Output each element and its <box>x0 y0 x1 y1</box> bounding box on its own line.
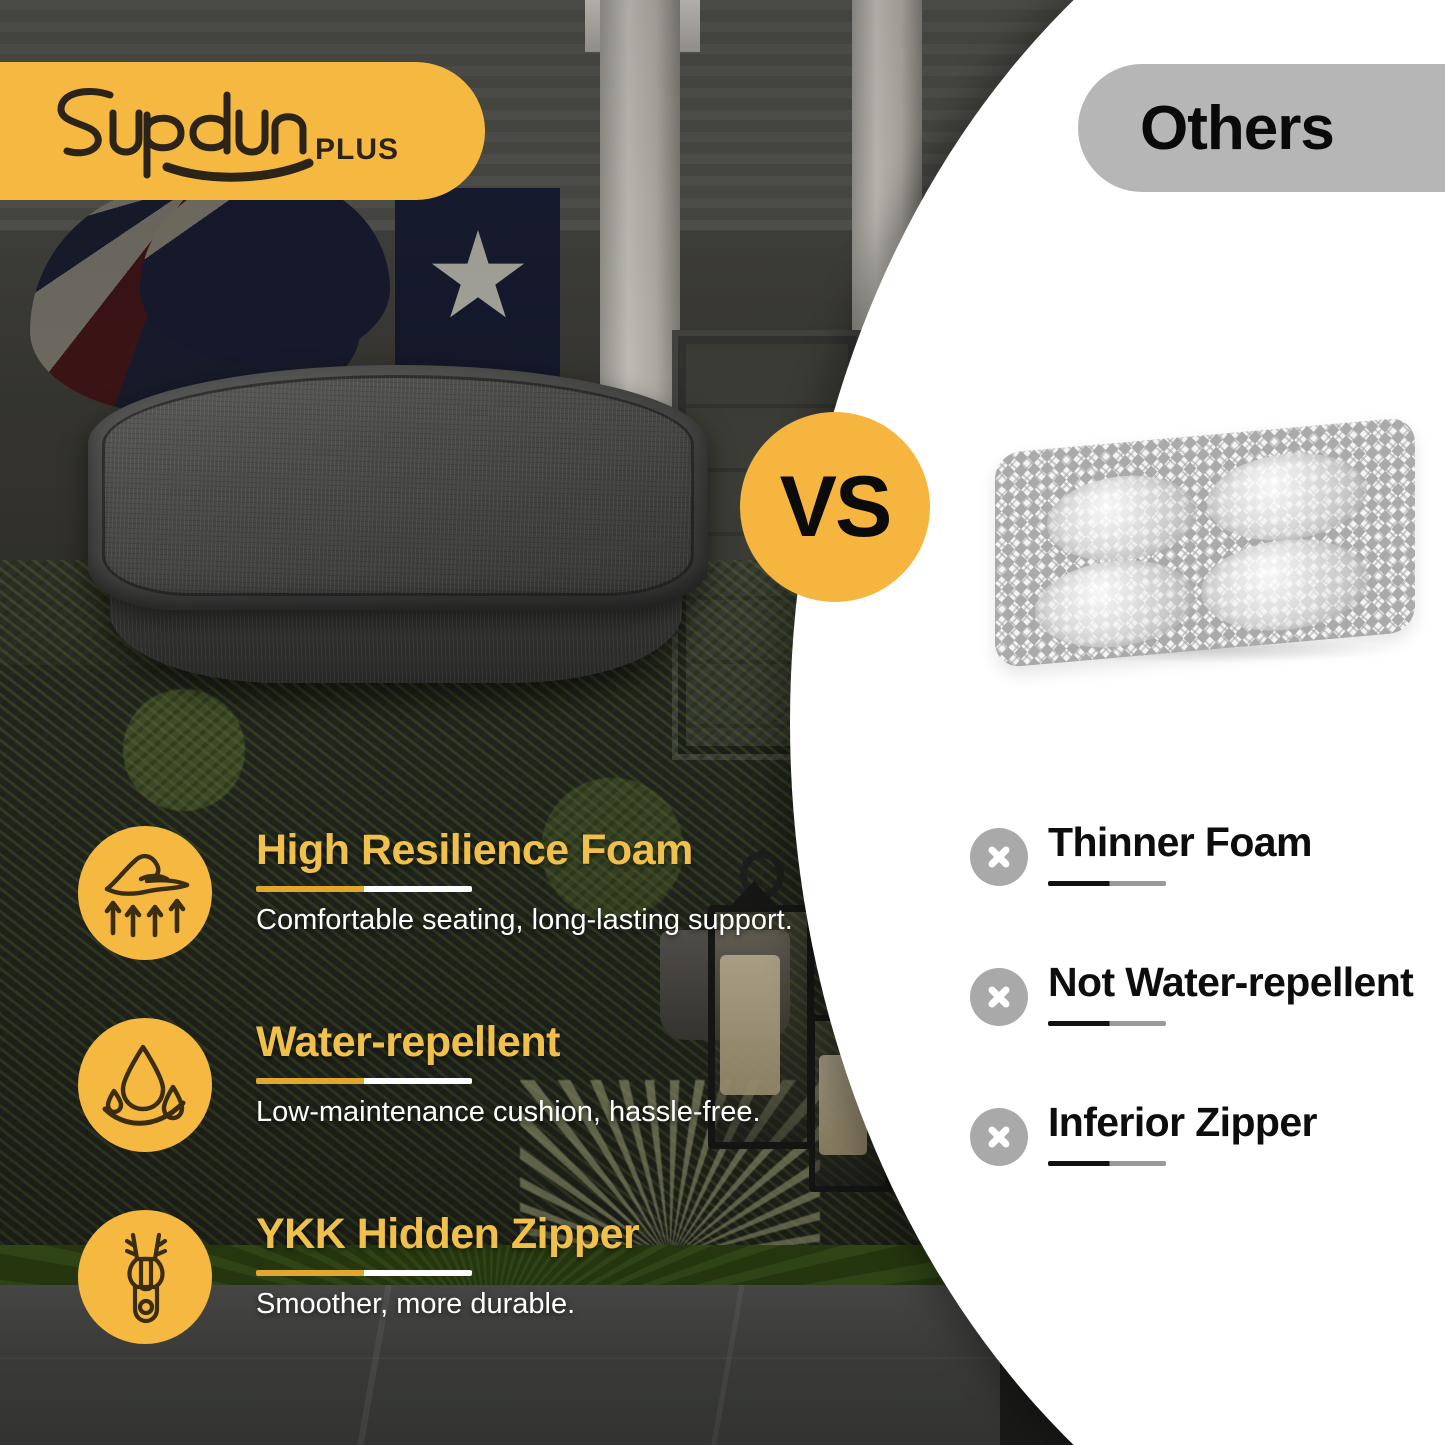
our-product-image <box>88 365 708 685</box>
feature-description: Low-maintenance cushion, hassle-free. <box>256 1095 801 1130</box>
feature-divider <box>256 886 472 892</box>
others-cushion-body <box>995 417 1415 669</box>
con-item: Inferior Zipper <box>970 1098 1440 1238</box>
feature-title: Water-repellent <box>256 1020 801 1065</box>
con-title: Thinner Foam <box>1048 818 1312 867</box>
feature-divider <box>256 1078 472 1084</box>
con-divider <box>1048 881 1166 886</box>
feature-item: High Resilience Foam Comfortable seating… <box>78 818 798 1010</box>
con-text-block: Inferior Zipper <box>1048 1098 1317 1166</box>
con-text-block: Thinner Foam <box>1048 818 1312 886</box>
others-header-badge: Others <box>1078 64 1445 192</box>
x-circle-icon <box>970 968 1028 1026</box>
con-divider <box>1048 1161 1166 1166</box>
zipper-icon <box>78 1210 212 1344</box>
feature-item: YKK Hidden Zipper Smoother, more durable… <box>78 1202 798 1394</box>
feature-title: YKK Hidden Zipper <box>256 1212 801 1257</box>
brand-logo-mark: PLUS <box>47 79 397 183</box>
logo-plus-text: PLUS <box>315 133 397 166</box>
cushion-support-arrows-icon <box>78 826 212 960</box>
feature-description: Smoother, more durable. <box>256 1287 801 1322</box>
water-droplet-icon <box>78 1018 212 1152</box>
others-label: Others <box>1140 93 1334 164</box>
con-title: Not Water-repellent <box>1048 958 1413 1007</box>
feature-description: Comfortable seating, long-lasting suppor… <box>256 903 801 938</box>
comparison-infographic: PLUS Others VS <box>0 0 1445 1445</box>
con-divider <box>1048 1021 1166 1026</box>
feature-item: Water-repellent Low-maintenance cushion,… <box>78 1010 798 1202</box>
con-item: Thinner Foam <box>970 818 1440 958</box>
feature-divider <box>256 1270 472 1276</box>
con-item: Not Water-repellent <box>970 958 1440 1098</box>
supdun-wordmark-icon: PLUS <box>47 79 397 183</box>
cushion-top-surface <box>88 365 708 610</box>
vs-label: VS <box>780 458 891 557</box>
feature-text-block: High Resilience Foam Comfortable seating… <box>256 828 801 938</box>
x-circle-icon <box>970 1108 1028 1166</box>
con-title: Inferior Zipper <box>1048 1098 1317 1147</box>
x-circle-icon <box>970 828 1028 886</box>
feature-text-block: YKK Hidden Zipper Smoother, more durable… <box>256 1212 801 1322</box>
feature-text-block: Water-repellent Low-maintenance cushion,… <box>256 1020 801 1130</box>
brand-logo-badge: PLUS <box>0 62 485 200</box>
others-cons-list: Thinner Foam Not Water-repellent <box>970 818 1440 1238</box>
our-features-list: High Resilience Foam Comfortable seating… <box>78 818 798 1394</box>
con-text-block: Not Water-repellent <box>1048 958 1413 1026</box>
feature-title: High Resilience Foam <box>256 828 801 873</box>
others-product-image <box>995 405 1415 667</box>
vs-badge: VS <box>740 412 930 602</box>
